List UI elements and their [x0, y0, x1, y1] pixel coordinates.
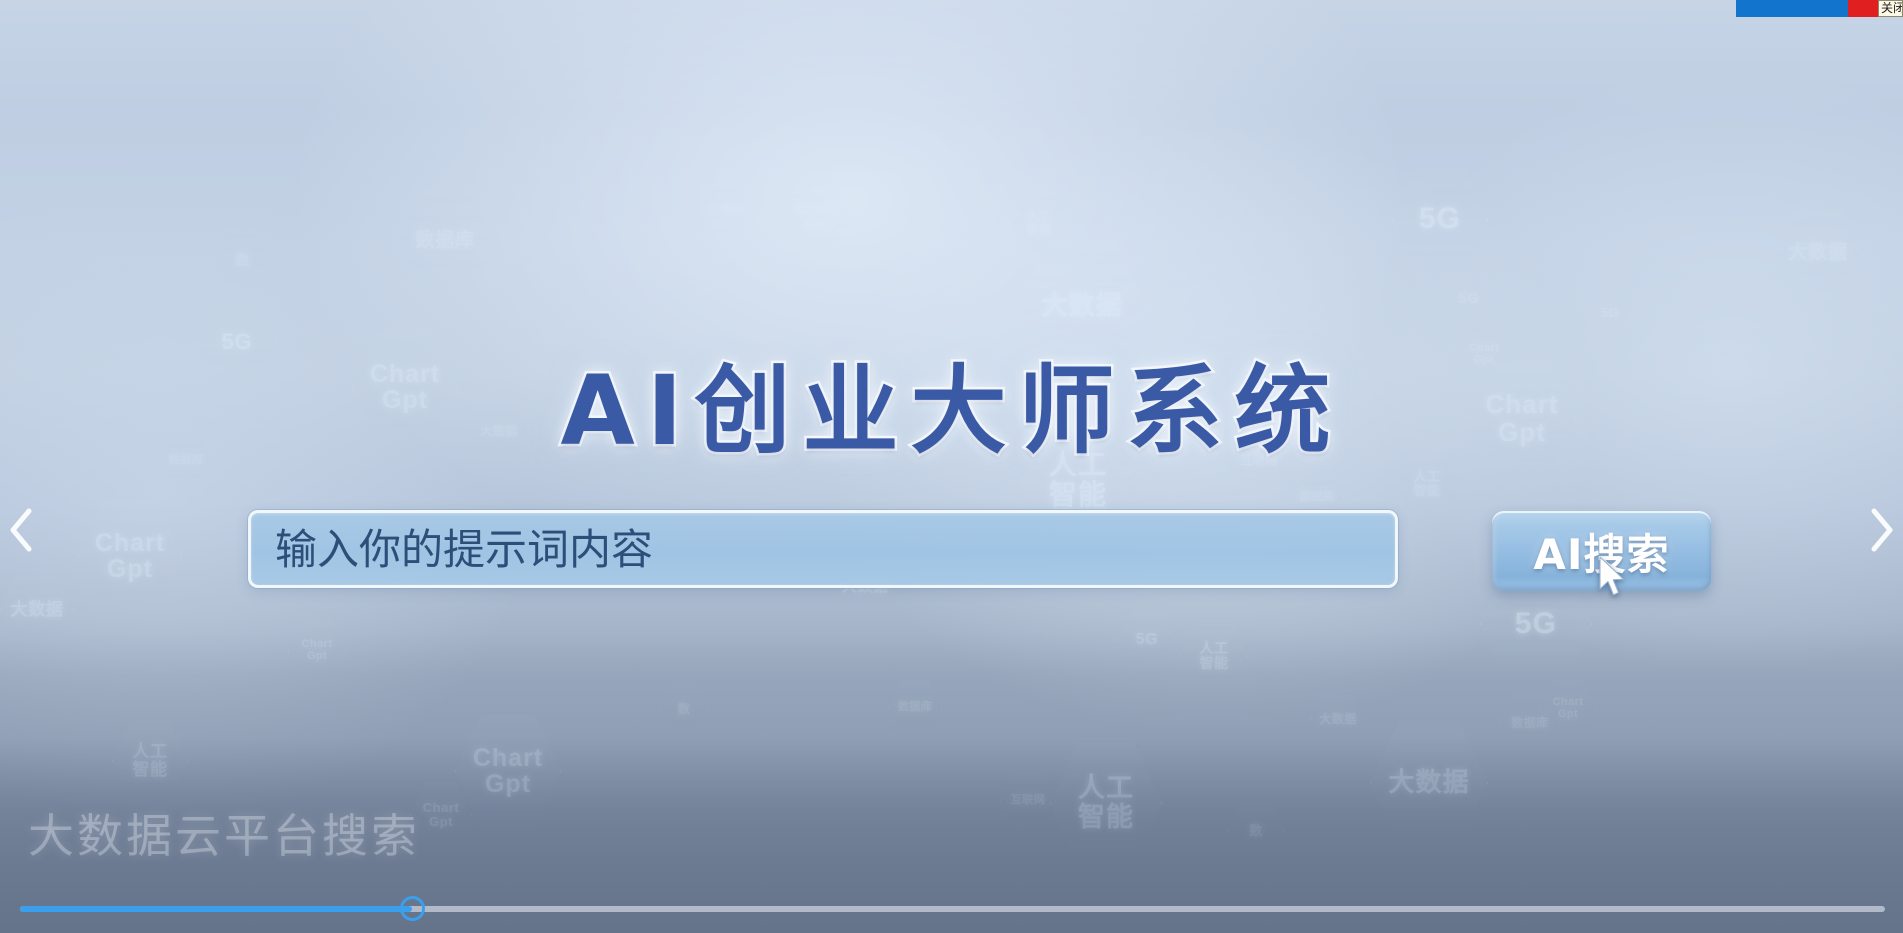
- hex-tag: 数: [1228, 800, 1284, 862]
- page-title: AI创业大师系统: [0, 333, 1903, 472]
- hex-tag: Chart Gpt: [782, 178, 852, 258]
- hex-tag: Chart Gpt: [288, 618, 346, 684]
- ambient-glow-left: [0, 180, 540, 820]
- hex-tag: Chart Gpt: [1540, 678, 1596, 740]
- floor-sheen: [0, 675, 1903, 815]
- topbar-overlay: 关闭: [1736, 0, 1903, 17]
- chevron-right-icon: [1861, 503, 1901, 557]
- prompt-input[interactable]: [248, 510, 1398, 588]
- hex-tag: 人工 智能: [1180, 618, 1248, 694]
- hex-tag: 互联网: [1000, 770, 1056, 832]
- topbar-close-button[interactable]: [1848, 0, 1878, 17]
- chevron-left-icon: [2, 503, 42, 557]
- hex-tag: 人工 智能: [112, 718, 188, 804]
- hex-tag: 数据库: [1500, 690, 1560, 756]
- hex-tag: 数: [660, 682, 708, 736]
- hex-tag: 大数据: [1370, 718, 1488, 848]
- topbar-blue-segment: [1736, 0, 1848, 17]
- hex-tag: 5G: [1118, 608, 1176, 672]
- hex-tag: 人工 智能: [1050, 740, 1162, 866]
- hex-tag: 5G: [1443, 270, 1495, 328]
- carousel-next-button[interactable]: [1861, 503, 1901, 557]
- hex-tag: 大数据: [1775, 205, 1861, 301]
- progress-fill: [20, 906, 412, 912]
- progress-handle[interactable]: [400, 896, 425, 921]
- hex-tag: 5G: [1392, 165, 1488, 273]
- ai-search-button[interactable]: AI搜索: [1492, 511, 1711, 591]
- video-progress-bar: [0, 880, 1903, 933]
- hex-tag: 人工 智能: [1010, 190, 1068, 256]
- hex-tag: Chart Gpt: [455, 712, 561, 830]
- hex-tag: 数: [215, 228, 271, 292]
- video-player-stage: 数据库大数据Chart Gpt人工 智能大数据5G大数据数5G5G5GChart…: [0, 0, 1903, 933]
- hex-tag: 数据库: [888, 678, 942, 738]
- close-tooltip: 关闭: [1878, 0, 1903, 17]
- watermark-caption: 大数据云平台搜索: [28, 800, 420, 866]
- ambient-glow-center: [300, 0, 1400, 580]
- hex-tag: 大数据: [700, 182, 752, 240]
- hex-tag: 数据库: [395, 185, 495, 297]
- hex-tag: 大数据: [0, 568, 74, 652]
- search-row: AI搜索: [248, 510, 1710, 592]
- carousel-prev-button[interactable]: [2, 503, 42, 557]
- hex-tag: 大数据: [1310, 688, 1366, 750]
- progress-track[interactable]: [20, 906, 1885, 912]
- hex-tag: 5G: [1588, 288, 1632, 338]
- hex-tag: Chart Gpt: [78, 498, 182, 614]
